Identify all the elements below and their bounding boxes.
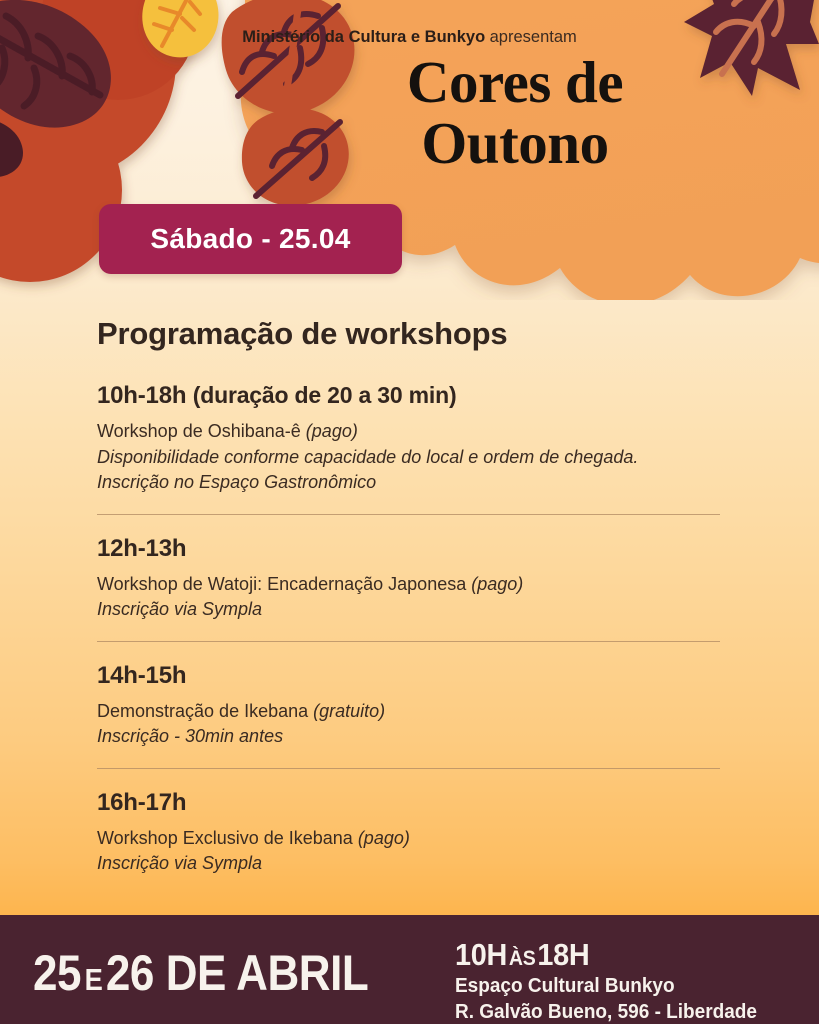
presenter-line: Ministério da Cultura e Bunkyo apresenta… xyxy=(0,28,819,47)
slot-divider-2 xyxy=(97,641,720,642)
footer-hours-conjunction: ÀS xyxy=(507,947,537,970)
poster-title-line2: Outono xyxy=(300,113,730,174)
footer-hours-end: 18H xyxy=(537,937,589,972)
footer-address: R. Galvão Bueno, 596 - Liberdade xyxy=(455,999,757,1024)
slot-4-line-1-note: (pago) xyxy=(358,828,410,848)
slot-1-line-3: Inscrição no Espaço Gastronômico xyxy=(97,470,727,496)
slot-1-line-1-note: (pago) xyxy=(306,421,358,441)
poster-title-line1: Cores de xyxy=(300,52,730,113)
footer-bar: 25E26 DE ABRIL 10HÀS18H Espaço Cultural … xyxy=(0,915,819,1024)
footer-info: 10HÀS18H Espaço Cultural Bunkyo R. Galvã… xyxy=(455,937,773,1024)
poster-title: Cores de Outono xyxy=(300,52,730,174)
footer-venue: Espaço Cultural Bunkyo xyxy=(455,973,757,999)
slot-2-line-2: Inscrição via Sympla xyxy=(97,597,727,623)
schedule-section: Programação de workshops 10h-18h (duraçã… xyxy=(97,316,727,877)
footer-date-conjunction: E xyxy=(81,962,106,997)
slot-2-line-1-text: Workshop de Watoji: Encadernação Japones… xyxy=(97,574,471,594)
slot-time-1-duration: (duração de 20 a 30 min) xyxy=(193,382,457,408)
schedule-slot-3: 14h-15h Demonstração de Ikebana (gratuit… xyxy=(97,662,727,750)
schedule-slot-4: 16h-17h Workshop Exclusivo de Ikebana (p… xyxy=(97,789,727,877)
slot-time-1: 10h-18h (duração de 20 a 30 min) xyxy=(97,382,727,410)
footer-hours-start: 10H xyxy=(455,937,507,972)
footer-hours: 10HÀS18H xyxy=(455,937,751,973)
slot-time-3: 14h-15h xyxy=(97,662,727,690)
slot-3-line-1-text: Demonstração de Ikebana xyxy=(97,701,313,721)
slot-time-4: 16h-17h xyxy=(97,789,727,817)
presenter-bold: Ministério da Cultura e Bunkyo xyxy=(242,28,485,46)
date-badge[interactable]: Sábado - 25.04 xyxy=(99,204,402,274)
slot-1-line-1-text: Workshop de Oshibana-ê xyxy=(97,421,306,441)
presenter-light: apresentam xyxy=(490,28,577,46)
page-title: Programação de workshops xyxy=(97,316,727,352)
slot-time-2: 12h-13h xyxy=(97,535,727,563)
poster-canvas: Ministério da Cultura e Bunkyo apresenta… xyxy=(0,0,819,1024)
slot-4-line-1: Workshop Exclusivo de Ikebana (pago) xyxy=(97,826,727,852)
slot-4-line-1-text: Workshop Exclusivo de Ikebana xyxy=(97,828,358,848)
slot-3-line-1-note: (gratuito) xyxy=(313,701,385,721)
slot-4-line-2: Inscrição via Sympla xyxy=(97,851,727,877)
slot-divider-3 xyxy=(97,768,720,769)
date-badge-label: Sábado - 25.04 xyxy=(150,223,350,255)
schedule-slot-1: 10h-18h (duração de 20 a 30 min) Worksho… xyxy=(97,382,727,496)
slot-2-line-1-note: (pago) xyxy=(471,574,523,594)
footer-date-start: 25 xyxy=(33,945,81,1001)
footer-date: 25E26 DE ABRIL xyxy=(33,944,368,1002)
schedule-slot-2: 12h-13h Workshop de Watoji: Encadernação… xyxy=(97,535,727,623)
footer-date-end: 26 DE ABRIL xyxy=(106,945,368,1001)
slot-3-line-1: Demonstração de Ikebana (gratuito) xyxy=(97,699,727,725)
slot-1-line-1: Workshop de Oshibana-ê (pago) xyxy=(97,419,727,445)
slot-divider-1 xyxy=(97,514,720,515)
slot-1-line-2: Disponibilidade conforme capacidade do l… xyxy=(97,445,727,471)
slot-2-line-1: Workshop de Watoji: Encadernação Japones… xyxy=(97,572,727,598)
slot-3-line-2: Inscrição - 30min antes xyxy=(97,724,727,750)
slot-time-1-value: 10h-18h xyxy=(97,382,186,409)
